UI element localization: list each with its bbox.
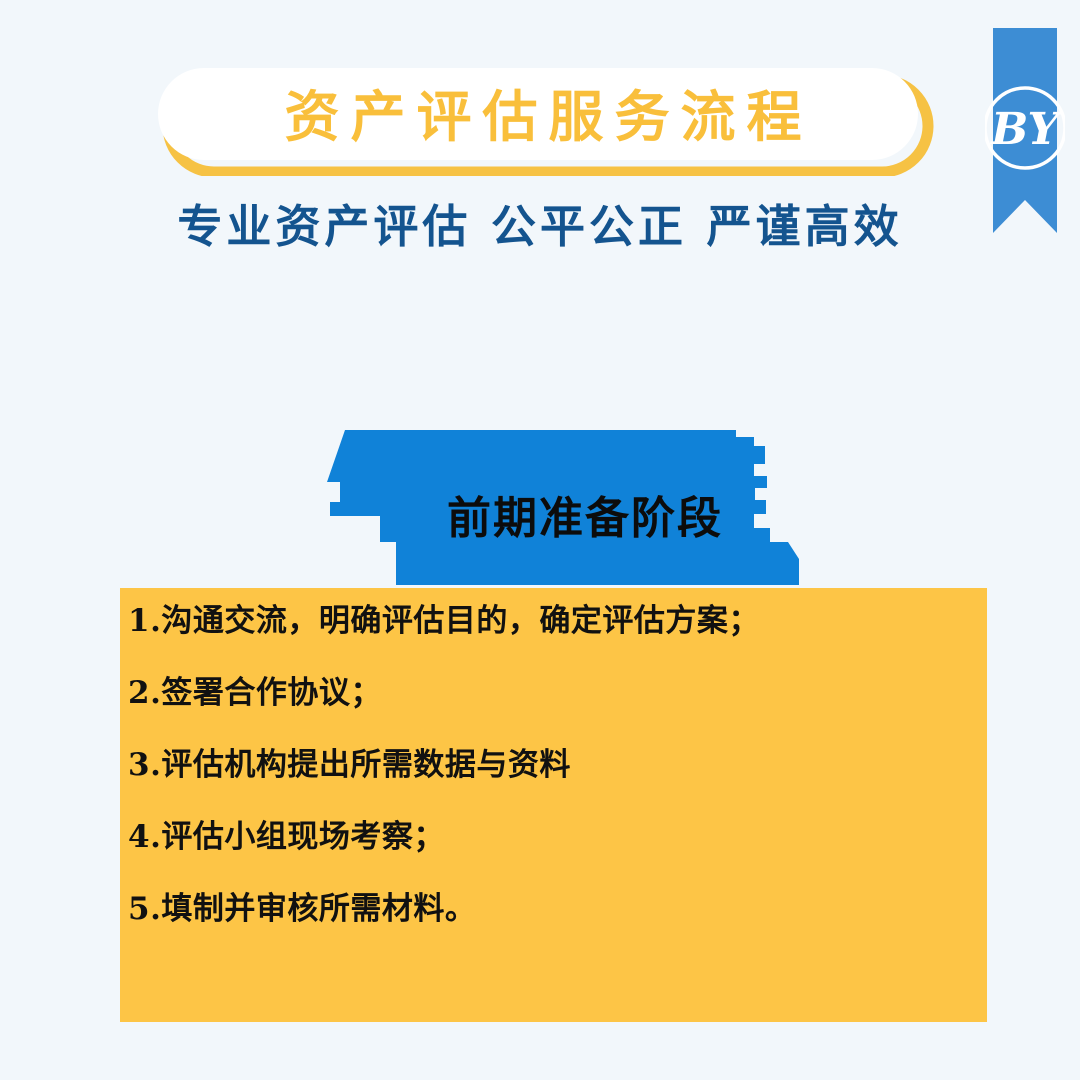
page-title: 资产评估服务流程 xyxy=(148,58,938,166)
list-item: 4.评估小组现场考察； xyxy=(128,818,978,856)
stage-banner-label: 前期准备阶段 xyxy=(318,424,818,590)
steps-list: 1.沟通交流，明确评估目的，确定评估方案； 2.签署合作协议； 3.评估机构提出… xyxy=(128,602,978,962)
stage-banner: 前期准备阶段 xyxy=(318,424,818,590)
badge-initials: BY xyxy=(989,104,1062,155)
title-banner: 资产评估服务流程 xyxy=(148,58,948,176)
list-item: 3.评估机构提出所需数据与资料 xyxy=(128,746,978,784)
page-subtitle: 专业资产评估 公平公正 严谨高效 xyxy=(0,190,1080,255)
poster-canvas: 资产评估服务流程 BY 专业资产评估 公平公正 严谨高效 前期准备阶段 1.沟通… xyxy=(0,0,1080,1080)
list-item: 1.沟通交流，明确评估目的，确定评估方案； xyxy=(128,602,978,640)
steps-panel: 1.沟通交流，明确评估目的，确定评估方案； 2.签署合作协议； 3.评估机构提出… xyxy=(120,588,987,1022)
list-item: 2.签署合作协议； xyxy=(128,674,978,712)
list-item: 5.填制并审核所需材料。 xyxy=(128,890,978,928)
